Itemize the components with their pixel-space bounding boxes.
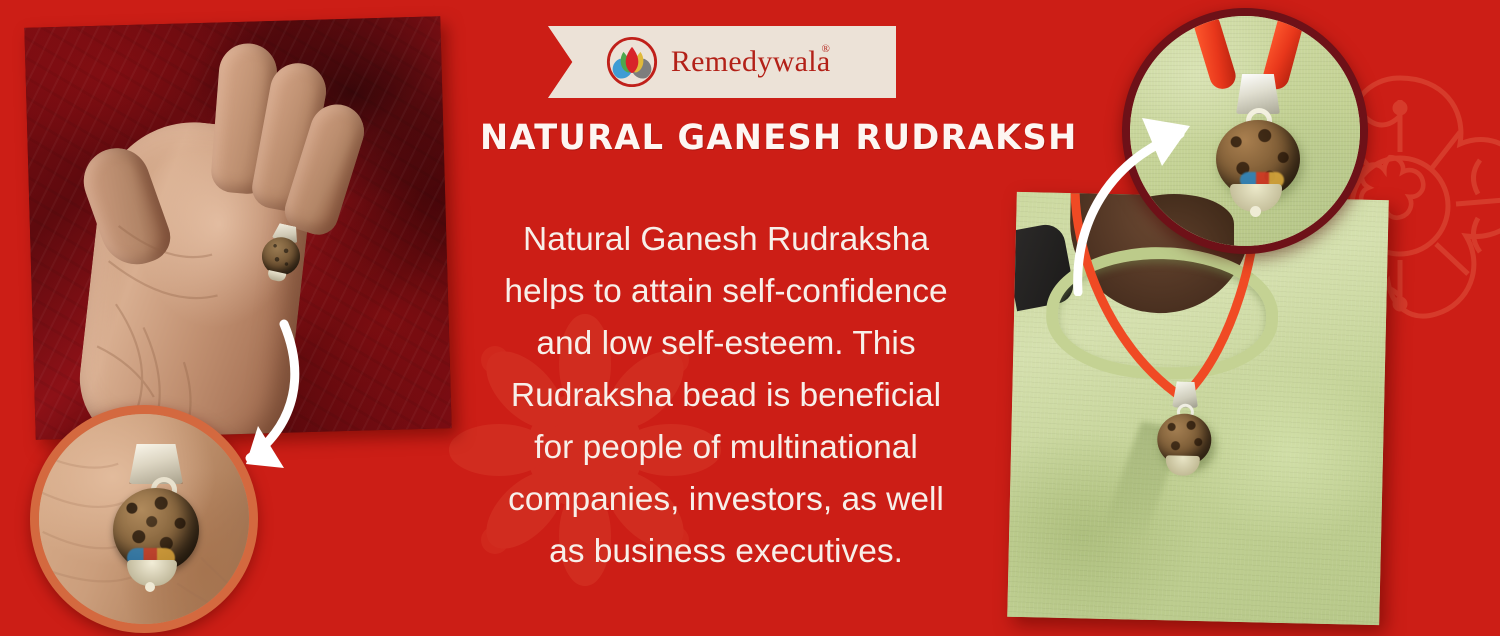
curved-arrow-down-left-icon [172,318,322,498]
page-title: NATURAL GANESH RUDRAKSH [480,118,960,158]
rudraksha-pendant-worn [1148,381,1220,487]
brand-ribbon: Remedywala® [548,26,896,98]
curved-arrow-up-right-icon [1068,96,1248,296]
description-text: Natural Ganesh Rudraksha helps to attain… [487,214,965,578]
brand-name: Remedywala [671,45,831,78]
promo-banner: Remedywala® NATURAL GANESH RUDRAKSH Natu… [0,0,1500,636]
registered-trademark-symbol: ® [821,43,830,55]
brand-wordmark: Remedywala® [671,45,839,79]
lotus-droplet-logo-icon [605,35,659,89]
